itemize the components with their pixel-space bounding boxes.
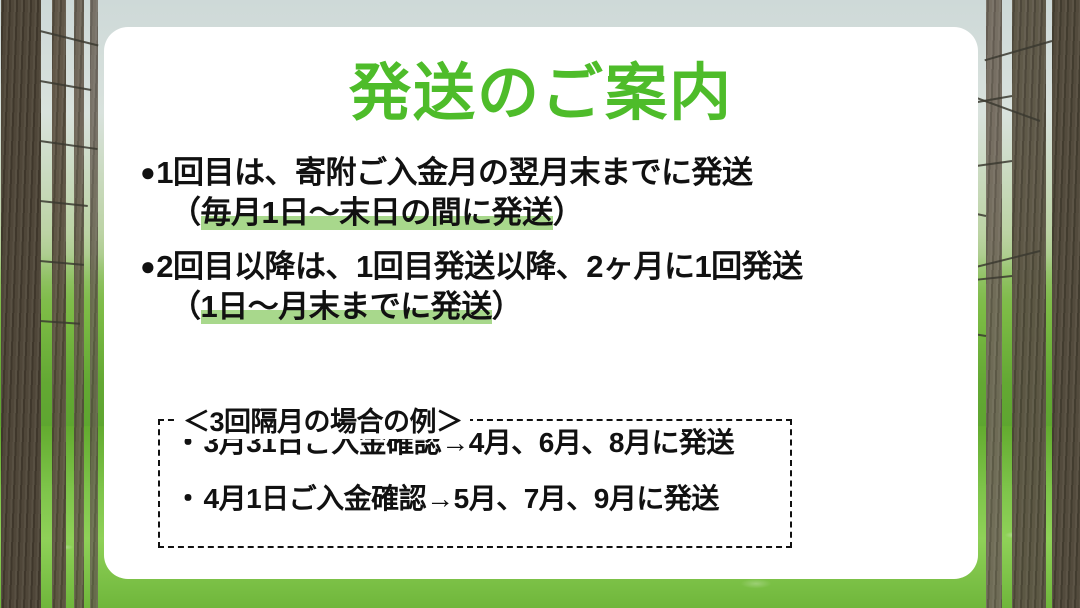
paren-close: ） [492, 289, 523, 324]
tree-trunk [1052, 0, 1080, 608]
bullet-text: 2回目以降は、1回目発送以降、2ヶ月に1回発送 [156, 249, 802, 284]
example-line: ・4月1日ご入金確認→5月、7月、9月に発送 [160, 477, 790, 517]
tree-trunk [1012, 0, 1046, 608]
bullet-list: ●1回目は、寄附ご入金月の翌月末までに発送 （毎月1日～末日の間に発送） ●2回… [104, 153, 978, 327]
middle-dot-icon: ・ [174, 483, 202, 514]
paren-open: （ [170, 195, 201, 230]
tree-trunk [986, 0, 1002, 608]
bullet-dot-icon: ● [140, 157, 155, 187]
highlighted-text: 1日～月末までに発送 [201, 289, 492, 324]
bullet-dot-icon: ● [140, 251, 155, 281]
bullet-primary-line: ●1回目は、寄附ご入金月の翌月末までに発送 [140, 153, 978, 193]
bullet-text: 1回目は、寄附ご入金月の翌月末までに発送 [156, 155, 752, 190]
bullet-primary-line: ●2回目以降は、1回目発送以降、2ヶ月に1回発送 [140, 247, 978, 287]
tree-trunk [52, 0, 66, 608]
example-box-legend: ＜3回隔月の場合の例＞ [176, 400, 470, 439]
example-box: ＜3回隔月の場合の例＞ ・3月31日ご入金確認→4月、6月、8月に発送 ・4月1… [158, 419, 792, 548]
bullet-item: ●1回目は、寄附ご入金月の翌月末までに発送 （毎月1日～末日の間に発送） [140, 153, 978, 233]
tree-trunk [74, 0, 84, 608]
tree-trunk [90, 0, 98, 608]
bullet-secondary-line: （毎月1日～末日の間に発送） [140, 193, 978, 233]
bullet-secondary-line: （1日～月末までに発送） [140, 287, 978, 327]
tree-trunk [1, 0, 41, 608]
page-title: 発送のご案内 [104, 27, 978, 125]
example-text: 4月1日ご入金確認→5月、7月、9月に発送 [204, 483, 719, 514]
info-card: 発送のご案内 ●1回目は、寄附ご入金月の翌月末までに発送 （毎月1日～末日の間に… [104, 27, 978, 579]
paren-open: （ [170, 289, 201, 324]
bullet-item: ●2回目以降は、1回目発送以降、2ヶ月に1回発送 （1日～月末までに発送） [140, 247, 978, 327]
highlighted-text: 毎月1日～末日の間に発送 [201, 195, 553, 230]
paren-close: ） [553, 195, 584, 230]
